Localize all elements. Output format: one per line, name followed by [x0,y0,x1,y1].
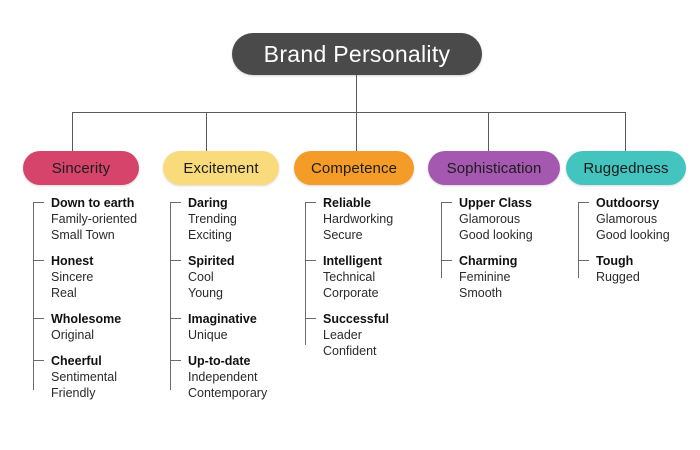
category-pill-excitement[interactable]: Excitement [163,151,279,185]
connector-horizontal-bus [72,112,626,113]
facet-label: Intelligent [323,254,393,269]
trait-item: Rugged [596,269,670,285]
trait-item: Contemporary [188,385,267,401]
facet-tick [578,202,589,203]
facet-label: Successful [323,312,393,327]
facet-group: Up-to-date Independent Contemporary [170,354,267,401]
connector-drop-competence [356,112,357,151]
trait-item: Real [51,285,137,301]
facet-group: Charming Feminine Smooth [441,254,533,301]
facet-tick [170,360,181,361]
facet-group: Down to earth Family-oriented Small Town [33,196,137,243]
facet-label: Charming [459,254,533,269]
trait-item: Unique [188,327,267,343]
facet-label: Down to earth [51,196,137,211]
facet-label: Cheerful [51,354,137,369]
facet-tick [33,318,44,319]
category-label-ruggedness: Ruggedness [583,160,668,177]
brand-personality-diagram: Brand Personality Sincerity Excitement C… [0,0,700,450]
trait-item: Sincere [51,269,137,285]
facet-label: Daring [188,196,267,211]
trait-item: Good looking [596,227,670,243]
trait-column-excitement: Daring Trending Exciting Spirited Cool Y… [170,196,267,401]
trait-item: Good looking [459,227,533,243]
trait-item: Technical [323,269,393,285]
trait-column-sincerity: Down to earth Family-oriented Small Town… [33,196,137,401]
trait-item: Hardworking [323,211,393,227]
facet-tick [305,260,316,261]
category-pill-ruggedness[interactable]: Ruggedness [566,151,686,185]
facet-group: Imaginative Unique [170,312,267,343]
category-pill-competence[interactable]: Competence [294,151,414,185]
connector-drop-sophistication [488,112,489,151]
facet-tick [33,202,44,203]
root-node-brand-personality[interactable]: Brand Personality [232,33,482,75]
facet-tick [33,360,44,361]
facet-tick [441,260,452,261]
facet-group: Honest Sincere Real [33,254,137,301]
facet-tick [578,260,589,261]
trait-column-sophistication: Upper Class Glamorous Good looking Charm… [441,196,533,301]
trait-item: Confident [323,343,393,359]
facet-label: Imaginative [188,312,267,327]
trait-item: Feminine [459,269,533,285]
trait-item: Secure [323,227,393,243]
facet-group: Wholesome Original [33,312,137,343]
connector-root-stem [356,75,357,112]
trait-item: Young [188,285,267,301]
facet-group: Outdoorsy Glamorous Good looking [578,196,670,243]
facet-tick [441,202,452,203]
facet-tick [33,260,44,261]
trait-item: Cool [188,269,267,285]
category-label-competence: Competence [311,160,397,177]
connector-drop-ruggedness [625,112,626,151]
trait-item: Trending [188,211,267,227]
facet-label: Tough [596,254,670,269]
facet-group: Successful Leader Confident [305,312,393,359]
trait-column-competence: Reliable Hardworking Secure Intelligent … [305,196,393,359]
facet-group: Reliable Hardworking Secure [305,196,393,243]
facet-tick [305,202,316,203]
category-label-sincerity: Sincerity [52,160,110,177]
category-label-sophistication: Sophistication [447,160,542,177]
trait-item: Sentimental [51,369,137,385]
trait-item: Exciting [188,227,267,243]
root-node-label: Brand Personality [264,41,451,68]
trait-item: Original [51,327,137,343]
connector-drop-excitement [206,112,207,151]
facet-group: Tough Rugged [578,254,670,285]
trait-item: Small Town [51,227,137,243]
trait-item: Independent [188,369,267,385]
facet-group: Intelligent Technical Corporate [305,254,393,301]
trait-item: Leader [323,327,393,343]
facet-group: Daring Trending Exciting [170,196,267,243]
category-pill-sophistication[interactable]: Sophistication [428,151,560,185]
facet-label: Reliable [323,196,393,211]
facet-group: Cheerful Sentimental Friendly [33,354,137,401]
facet-label: Wholesome [51,312,137,327]
facet-tick [170,318,181,319]
facet-label: Spirited [188,254,267,269]
trait-item: Smooth [459,285,533,301]
facet-group: Upper Class Glamorous Good looking [441,196,533,243]
facet-label: Honest [51,254,137,269]
category-pill-sincerity[interactable]: Sincerity [23,151,139,185]
facet-group: Spirited Cool Young [170,254,267,301]
trait-item: Corporate [323,285,393,301]
trait-item: Glamorous [459,211,533,227]
facet-label: Outdoorsy [596,196,670,211]
trait-column-ruggedness: Outdoorsy Glamorous Good looking Tough R… [578,196,670,285]
category-label-excitement: Excitement [183,160,258,177]
trait-item: Family-oriented [51,211,137,227]
trait-item: Glamorous [596,211,670,227]
facet-tick [170,260,181,261]
connector-drop-sincerity [72,112,73,151]
facet-tick [170,202,181,203]
facet-label: Up-to-date [188,354,267,369]
facet-label: Upper Class [459,196,533,211]
facet-tick [305,318,316,319]
trait-item: Friendly [51,385,137,401]
